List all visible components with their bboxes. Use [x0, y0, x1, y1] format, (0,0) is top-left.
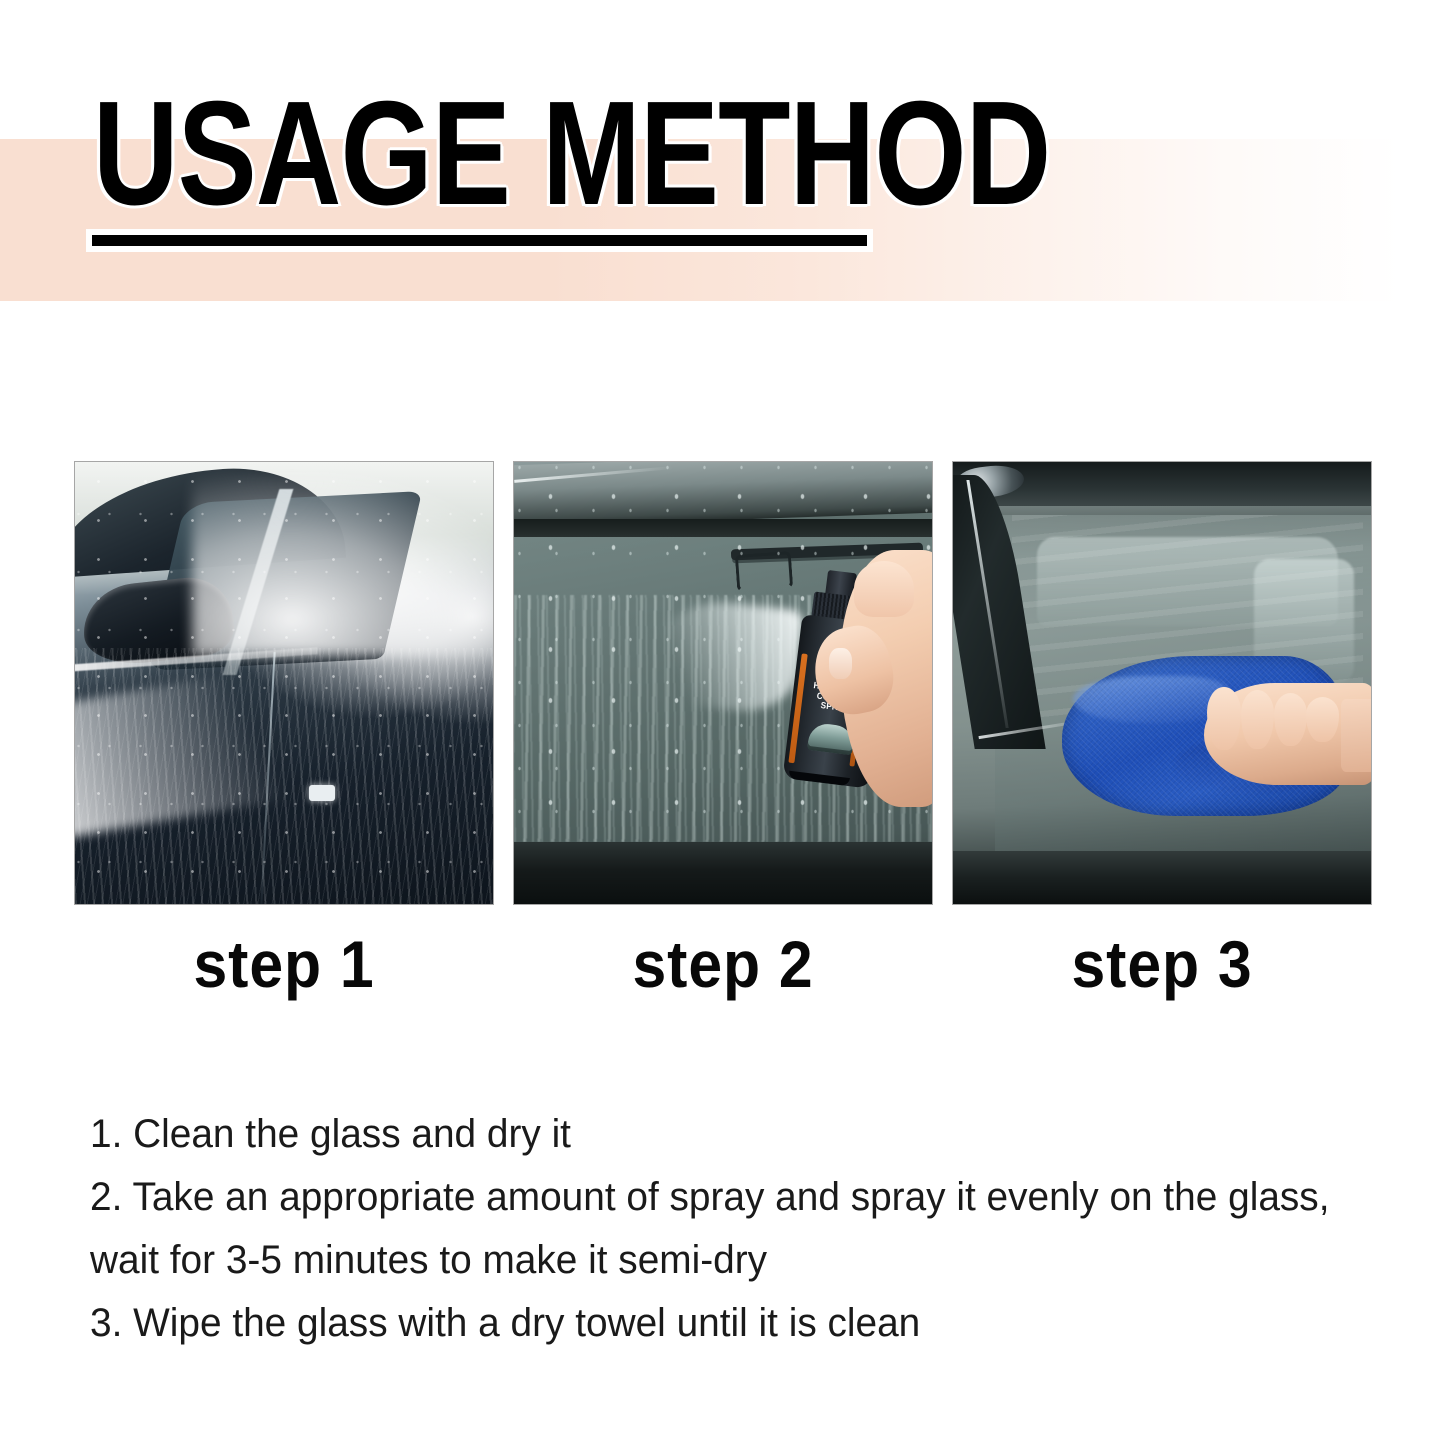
car-wash-photo [75, 462, 493, 904]
body-reflection-highlight [309, 785, 335, 801]
step-caption-2: step 2 [531, 925, 916, 1003]
page-title: USAGE METHOD [93, 80, 1050, 228]
finger-pinky [1306, 697, 1339, 742]
step-image-2[interactable]: CAR ANTI HYDROPHOBIC COATING SPRAY [514, 462, 932, 904]
step-image-1[interactable] [75, 462, 493, 904]
finger-middle [1241, 690, 1274, 749]
thumb-nail-shape [829, 648, 852, 679]
wrist-shape [1341, 699, 1371, 772]
finger-index [1207, 687, 1240, 750]
hand-holding-bottle [815, 550, 932, 806]
step-caption-3: step 3 [970, 925, 1355, 1003]
step-caption-1: step 1 [92, 925, 477, 1003]
spray-application-photo: CAR ANTI HYDROPHOBIC COATING SPRAY [514, 462, 932, 904]
lower-body-band [953, 851, 1371, 904]
cowl-lower-band [514, 842, 932, 904]
hand-knuckles-shape [854, 561, 915, 617]
title-underline-bar [92, 235, 867, 246]
instruction-line-2: 2. Take an appropriate amount of spray a… [90, 1166, 1341, 1292]
instruction-line-3: 3. Wipe the glass with a dry towel until… [90, 1292, 1341, 1355]
instruction-list: 1. Clean the glass and dry it 2. Take an… [90, 1103, 1341, 1355]
hand-wiping [1204, 683, 1371, 785]
instruction-line-1: 1. Clean the glass and dry it [90, 1103, 1341, 1166]
step-images-row: CAR ANTI HYDROPHOBIC COATING SPRAY [75, 462, 1371, 904]
bottle-accent-stripe-left [788, 653, 807, 762]
towel-wipe-photo [953, 462, 1371, 904]
water-droplets-texture [75, 462, 493, 904]
step-image-3[interactable] [953, 462, 1371, 904]
step-captions-row: step 1 step 2 step 3 [75, 925, 1371, 1003]
